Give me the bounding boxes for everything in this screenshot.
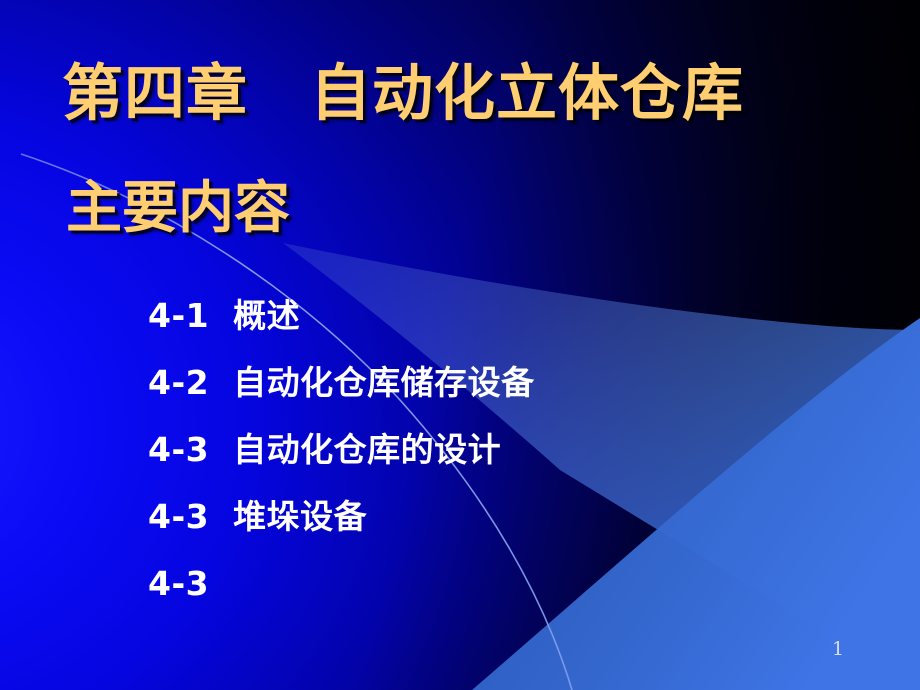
- presentation-slide: 第四章 自动化立体仓库 主要内容 4-1 概述 4-2 自动化仓库储存设备 4-…: [0, 0, 920, 690]
- list-item: 4-3 自动化仓库的设计: [148, 430, 535, 497]
- slide-title: 第四章 自动化立体仓库: [62, 58, 744, 130]
- list-item: 4-2 自动化仓库储存设备: [148, 363, 535, 430]
- list-item: 4-1 概述: [148, 296, 535, 363]
- list-item: 4-3: [148, 564, 535, 631]
- page-number: 1: [832, 638, 844, 660]
- slide-subtitle: 主要内容: [66, 176, 290, 242]
- list-item: 4-3 堆垛设备: [148, 497, 535, 564]
- slide-outline-list: 4-1 概述 4-2 自动化仓库储存设备 4-3 自动化仓库的设计 4-3 堆垛…: [148, 296, 535, 631]
